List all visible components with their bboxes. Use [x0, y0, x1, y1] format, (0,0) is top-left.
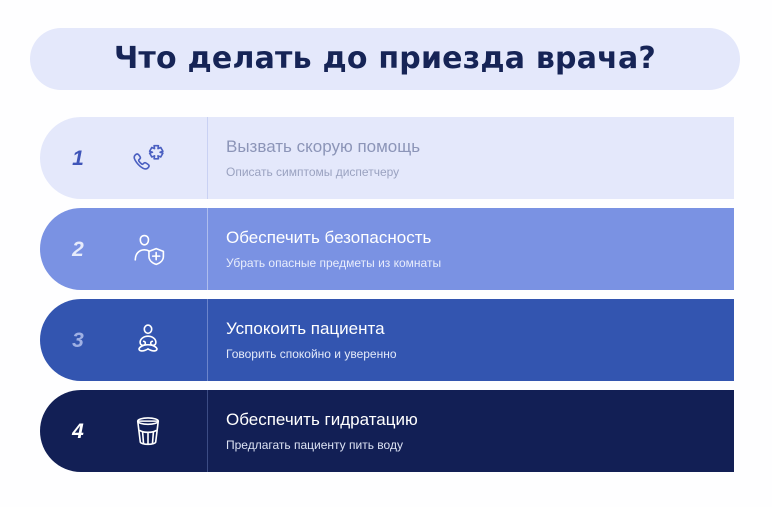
phone-emergency-icon [116, 139, 180, 177]
title-banner: Что делать до приезда врача? [30, 28, 740, 90]
step-row: 1 Вызвать скорую помощь Описать симптомы… [40, 117, 734, 199]
step-left-zone: 1 [40, 117, 207, 199]
step-subtitle: Описать симптомы диспетчеру [226, 165, 718, 179]
water-glass-icon [116, 412, 180, 450]
steps-list: 1 Вызвать скорую помощь Описать симптомы… [40, 117, 734, 472]
step-subtitle: Предлагать пациенту пить воду [226, 438, 718, 452]
person-shield-icon [116, 230, 180, 268]
step-title: Успокоить пациента [226, 319, 718, 339]
step-body: Успокоить пациента Говорить спокойно и у… [208, 299, 734, 381]
step-subtitle: Говорить спокойно и уверенно [226, 347, 718, 361]
step-title: Обеспечить гидратацию [226, 410, 718, 430]
step-left-zone: 4 [40, 390, 207, 472]
step-title: Обеспечить безопасность [226, 228, 718, 248]
step-number: 2 [40, 239, 116, 260]
step-subtitle: Убрать опасные предметы из комнаты [226, 256, 718, 270]
step-number: 3 [40, 330, 116, 351]
step-number: 1 [40, 148, 116, 169]
step-row: 4 Обеспечить гидратацию Предлагать пацие… [40, 390, 734, 472]
step-left-zone: 3 [40, 299, 207, 381]
meditation-icon [116, 321, 180, 359]
step-number: 4 [40, 421, 116, 442]
step-body: Обеспечить гидратацию Предлагать пациент… [208, 390, 734, 472]
step-body: Вызвать скорую помощь Описать симптомы д… [208, 117, 734, 199]
step-row: 3 Успокоить пациента Говорить спокойно и… [40, 299, 734, 381]
step-left-zone: 2 [40, 208, 207, 290]
infographic-root: Что делать до приезда врача? 1 Вызвать с… [0, 0, 772, 507]
page-title: Что делать до приезда врача? [114, 44, 656, 74]
step-row: 2 Обеспечить безопасность Убрать опасные… [40, 208, 734, 290]
step-title: Вызвать скорую помощь [226, 137, 718, 157]
step-body: Обеспечить безопасность Убрать опасные п… [208, 208, 734, 290]
